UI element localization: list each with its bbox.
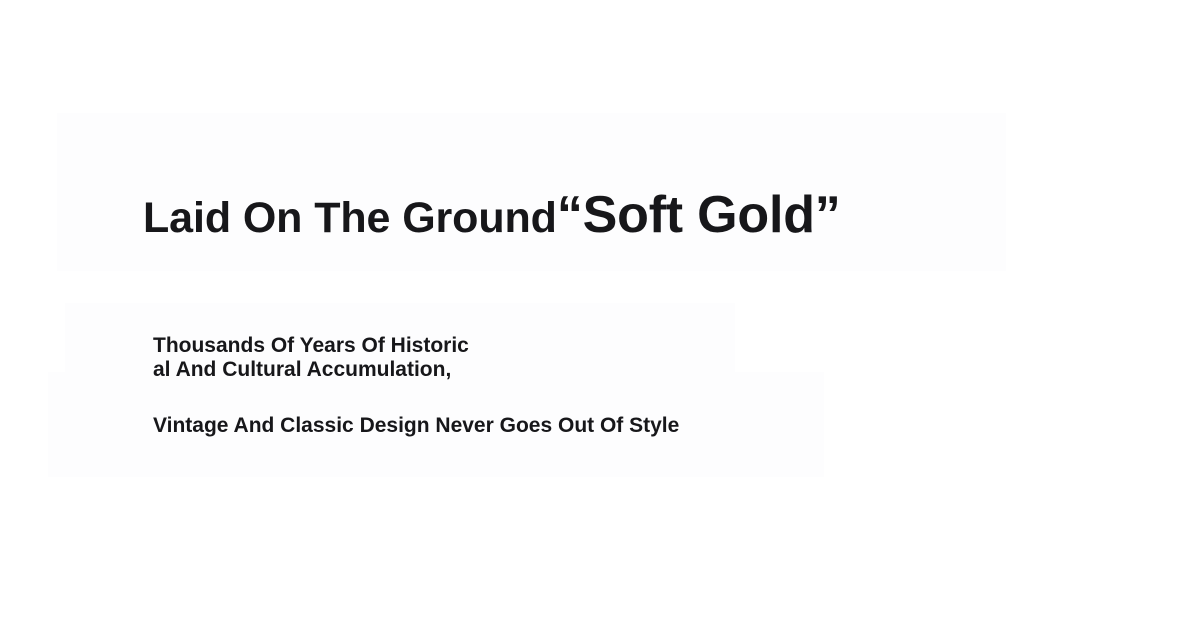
body-copy: Thousands Of Years Of Historic al And Cu…: [153, 334, 913, 438]
page-title-emphasis: “Soft Gold”: [557, 186, 841, 244]
body-paragraph-2: Vintage And Classic Design Never Goes Ou…: [153, 414, 913, 438]
slide-canvas: Laid On The Ground“Soft Gold” Thousands …: [0, 0, 1200, 617]
page-title: Laid On The Ground“Soft Gold”: [143, 189, 841, 241]
page-title-lead: Laid On The Ground: [143, 194, 557, 242]
body-paragraph-1: Thousands Of Years Of Historic al And Cu…: [153, 334, 913, 381]
